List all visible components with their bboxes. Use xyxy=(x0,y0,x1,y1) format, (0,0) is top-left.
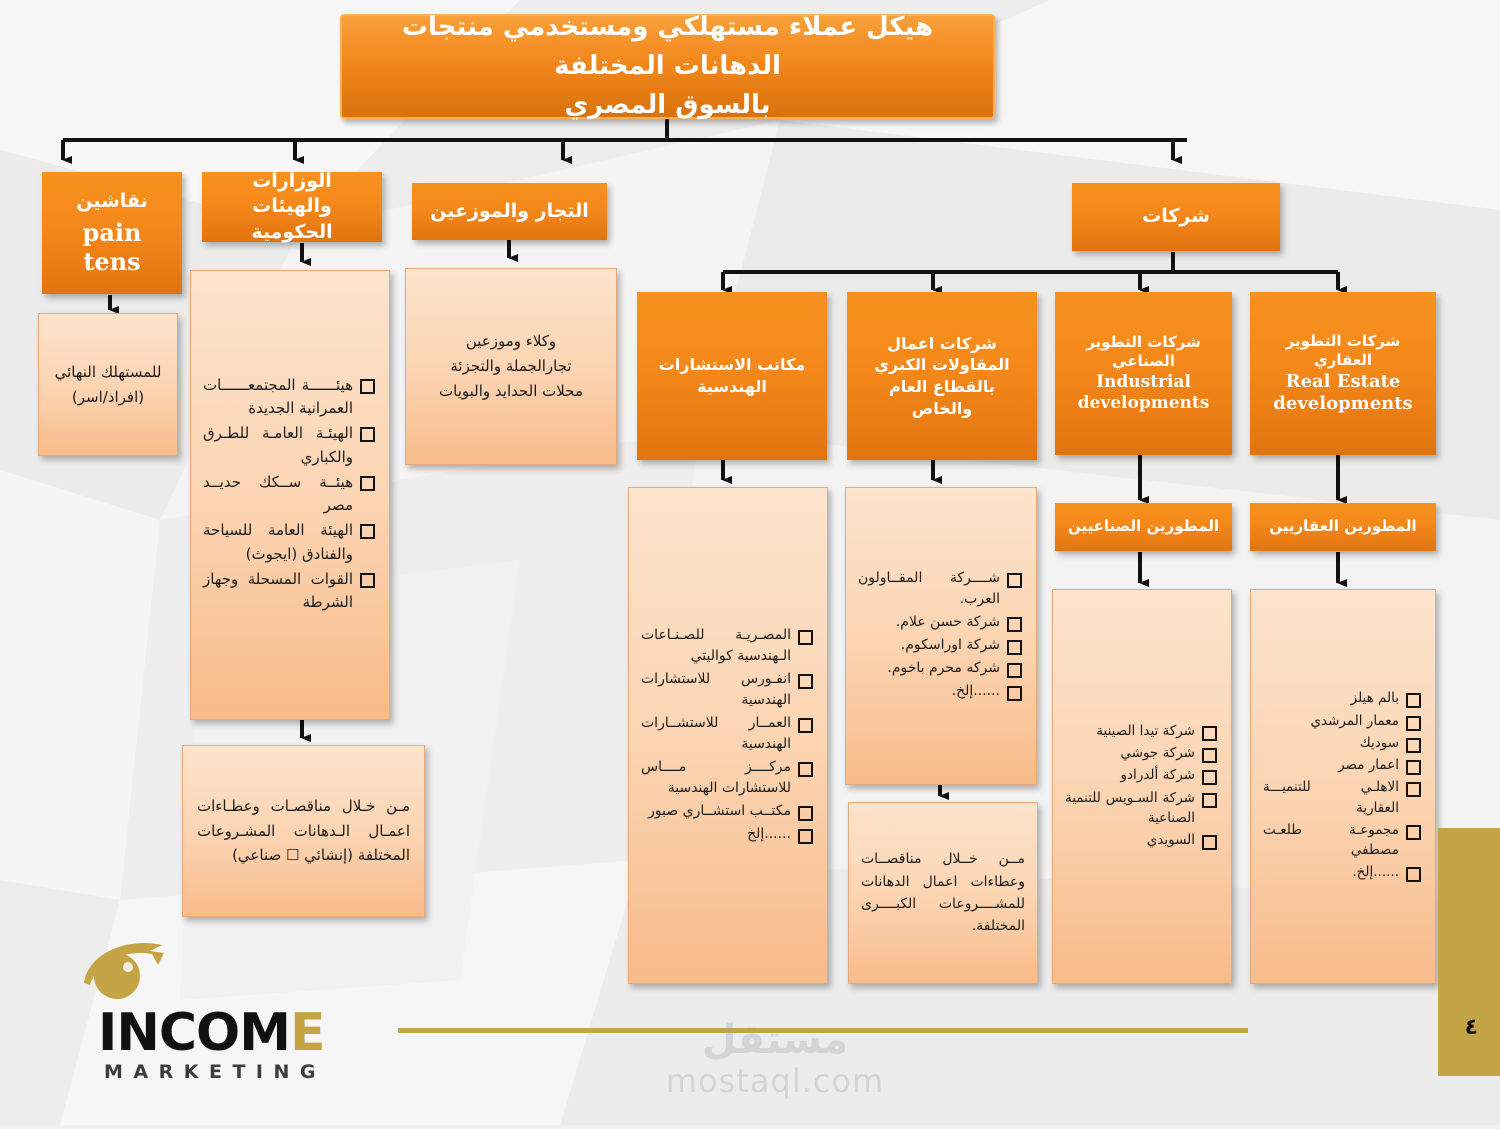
list-item: مركــــز مــــاس للاستشارات الهندسية xyxy=(641,757,815,799)
node-engineering-header[interactable]: مكاتب الاستشارات الهندسية xyxy=(637,292,827,460)
industrial-header-ar-2: الصناعي xyxy=(1065,352,1222,372)
list-item: شركة جوشي xyxy=(1065,743,1219,763)
income-marketing-logo: INCOME MARKETING xyxy=(70,945,400,1085)
node-engineering-list: المصـريـة للصـنـاعات الـهندسية كواليتي ا… xyxy=(628,487,828,984)
list-item: بالم هيلز xyxy=(1263,688,1423,708)
industrial-header-en-2: developments xyxy=(1065,393,1222,414)
list-item: المصـريـة للصـنـاعات الـهندسية كواليتي xyxy=(641,625,815,667)
node-painters-detail: للمستهلك النهائي (افراد/اسر) xyxy=(38,313,178,456)
eye-swoosh-icon xyxy=(80,939,250,1009)
mostaql-watermark: مستقل mostaql.com xyxy=(650,1020,900,1100)
node-government-header[interactable]: الوزارات والهيئات الحكومية xyxy=(202,172,382,242)
watermark-arabic: مستقل xyxy=(650,1020,900,1060)
list-item: شــــركة المقــاولون العرب. xyxy=(858,568,1024,610)
painters-header-en-1: pain xyxy=(52,219,172,248)
node-realestate-header[interactable]: شركات التطوير العقاري Real Estate develo… xyxy=(1250,292,1436,455)
logo-wordmark: INCOME xyxy=(98,1003,325,1063)
list-item: شركه محرم باخوم. xyxy=(858,658,1024,679)
government-list: هيئــــــة المجتمعــــــات العمرانية الج… xyxy=(203,374,377,615)
list-item: الهيئـة العامـة للطـرق والكباري xyxy=(203,422,377,469)
chart-title-box: هيكل عملاء مستهلكي ومستخدمي منتجات الدها… xyxy=(340,14,995,119)
node-traders-header[interactable]: التجار والموزعين xyxy=(412,183,607,240)
chart-title-line-1: هيكل عملاء مستهلكي ومستخدمي منتجات الدها… xyxy=(352,8,983,86)
industrial-header-ar-1: شركات التطوير xyxy=(1065,333,1222,353)
government-header-label: الوزارات والهيئات الحكومية xyxy=(202,163,382,252)
list-item: اعمار مصر xyxy=(1263,755,1423,775)
node-industrial-list: شركة تيدا الصينية شركة جوشي شركة ألدرادو… xyxy=(1052,589,1232,984)
list-item: معمار المرشدي xyxy=(1263,711,1423,731)
list-item: مكتــب استشــاري صبور xyxy=(641,801,815,822)
engineering-header-label: مكاتب الاستشارات الهندسية xyxy=(637,348,827,403)
node-traders-detail: وكلاء وموزعين تجارالجملة والتجزئة محلات … xyxy=(405,268,617,465)
chart-title-line-2: بالسوق المصري xyxy=(352,86,983,125)
list-item: شركة السـويس للتنمية الصناعية xyxy=(1065,788,1219,829)
realestate-subheader-label: المطورين العقاريين xyxy=(1250,511,1436,543)
node-government-list: هيئــــــة المجتمعــــــات العمرانية الج… xyxy=(190,270,390,720)
list-item: شركة حسن علام. xyxy=(858,612,1024,633)
node-companies-header[interactable]: شركات xyxy=(1072,183,1280,251)
traders-detail-line-3: محلات الحدايد والبويات xyxy=(416,379,606,404)
realestate-header-en-2: developments xyxy=(1260,393,1426,416)
traders-detail-line-2: تجارالجملة والتجزئة xyxy=(416,354,606,379)
node-contracting-header[interactable]: شركات اعمال المقاولات الكبري بالقطاع الع… xyxy=(847,292,1037,460)
painters-detail-line-2: (افراد/اسر) xyxy=(49,385,167,410)
list-item: ......إلخ. xyxy=(1263,862,1423,882)
government-tender-text: مـن خـلال مناقصـات وعطـاءات اعمـال الـده… xyxy=(183,784,424,878)
list-item: الهيئة العامة للسياحة والفنادق (ايجوث) xyxy=(203,519,377,566)
list-item: ......إلخ. xyxy=(858,681,1024,702)
list-item: شركة اوراسكوم. xyxy=(858,635,1024,656)
node-realestate-subheader[interactable]: المطورين العقاريين xyxy=(1250,503,1436,551)
node-realestate-list: بالم هيلز معمار المرشدي سوديك اعمار مصر … xyxy=(1250,589,1436,984)
node-industrial-header[interactable]: شركات التطوير الصناعي Industrial develop… xyxy=(1055,292,1232,455)
list-item: هيئــة ســكك حديــد مصر xyxy=(203,471,377,518)
logo-subtitle: MARKETING xyxy=(104,1061,326,1083)
companies-header-label: شركات xyxy=(1072,198,1280,236)
engineering-list: المصـريـة للصـنـاعات الـهندسية كواليتي ا… xyxy=(641,625,815,845)
list-item: العمــار للاستشــارات الهندسية xyxy=(641,713,815,755)
list-item: هيئــــــة المجتمعــــــات العمرانية الج… xyxy=(203,374,377,421)
page-number: ٤ xyxy=(1465,1015,1478,1040)
list-item: شركة ألدرادو xyxy=(1065,765,1219,785)
contracting-tender-text: مــن خــلال مناقصــات وعطاءات اعمال الده… xyxy=(849,838,1037,948)
logo-word-part-2: E xyxy=(290,1003,325,1063)
contracting-list: شــــركة المقــاولون العرب. شركة حسن علا… xyxy=(858,568,1024,702)
node-contracting-list: شــــركة المقــاولون العرب. شركة حسن علا… xyxy=(845,487,1037,785)
traders-detail-line-1: وكلاء وموزعين xyxy=(416,329,606,354)
list-item: مجموعـة طلعـت مصطفي xyxy=(1263,820,1423,861)
node-government-tender-note: مـن خـلال مناقصـات وعطـاءات اعمـال الـده… xyxy=(182,745,425,917)
node-contracting-tender-note: مــن خــلال مناقصــات وعطاءات اعمال الده… xyxy=(848,802,1038,984)
list-item: الاهلـي للتنميـــة العقارية xyxy=(1263,777,1423,818)
node-industrial-subheader[interactable]: المطورين الصناعيين xyxy=(1055,503,1232,551)
industrial-list: شركة تيدا الصينية شركة جوشي شركة ألدرادو… xyxy=(1065,721,1219,851)
traders-header-label: التجار والموزعين xyxy=(412,193,607,231)
realestate-header-ar-1: شركات التطوير العقاري xyxy=(1260,332,1426,371)
painters-header-ar: نقاشين xyxy=(52,189,172,215)
list-item: السويدي xyxy=(1065,830,1219,850)
contracting-header-label: شركات اعمال المقاولات الكبري بالقطاع الع… xyxy=(847,327,1037,425)
list-item: ......إلخ xyxy=(641,824,815,845)
page-number-band: ٤ xyxy=(1438,828,1500,1076)
node-painters-header[interactable]: نقاشين pain tens xyxy=(42,172,182,294)
watermark-latin: mostaql.com xyxy=(650,1062,900,1100)
realestate-list: بالم هيلز معمار المرشدي سوديك اعمار مصر … xyxy=(1263,688,1423,882)
realestate-header-en-1: Real Estate xyxy=(1260,371,1426,394)
logo-word-part-1: INCOM xyxy=(98,1003,290,1063)
industrial-subheader-label: المطورين الصناعيين xyxy=(1055,511,1232,543)
list-item: سوديك xyxy=(1263,733,1423,753)
list-item: انفـورس للاستشارات الهندسية xyxy=(641,669,815,711)
list-item: القوات المسحلة وجهاز الشرطة xyxy=(203,568,377,615)
painters-header-en-2: tens xyxy=(52,248,172,277)
painters-detail-line-1: للمستهلك النهائي xyxy=(49,360,167,385)
industrial-header-en-1: Industrial xyxy=(1065,372,1222,393)
list-item: شركة تيدا الصينية xyxy=(1065,721,1219,741)
